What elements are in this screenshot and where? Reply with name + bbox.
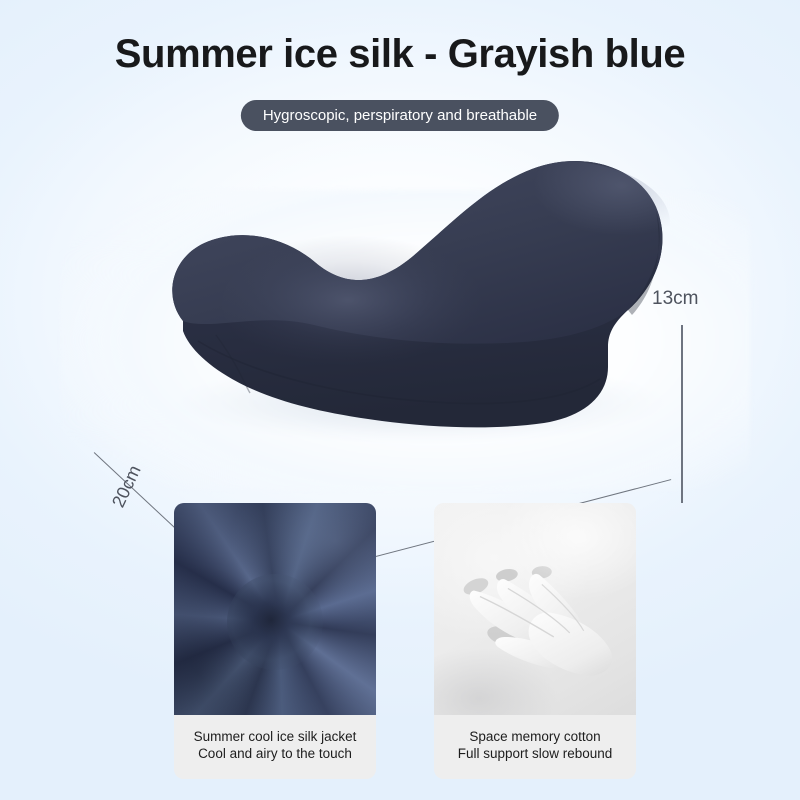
page-title: Summer ice silk - Grayish blue	[0, 32, 800, 77]
feature-panel-memory-foam: Space memory cotton Full support slow re…	[434, 503, 636, 779]
feature-caption-memory-foam: Space memory cotton Full support slow re…	[434, 715, 636, 779]
feature-panel-ice-silk: Summer cool ice silk jacket Cool and air…	[174, 503, 376, 779]
memory-foam-handprint-image	[434, 503, 636, 715]
ice-silk-fabric-image	[174, 503, 376, 715]
product-infographic-page: Summer ice silk - Grayish blue Hygroscop…	[0, 0, 800, 800]
product-hero-scene: 13cm 42cm 20cm	[0, 130, 800, 490]
fabric-sheen-overlay	[174, 503, 376, 715]
foam-sheen-overlay	[434, 503, 636, 715]
caption-line-1: Summer cool ice silk jacket	[194, 729, 357, 744]
feature-badge: Hygroscopic, perspiratory and breathable	[241, 100, 559, 131]
feature-panels: Summer cool ice silk jacket Cool and air…	[0, 500, 800, 790]
dimension-label-height: 13cm	[652, 288, 698, 310]
feature-caption-ice-silk: Summer cool ice silk jacket Cool and air…	[174, 715, 376, 779]
caption-line-2: Full support slow rebound	[440, 746, 630, 763]
caption-line-1: Space memory cotton	[469, 729, 600, 744]
caption-line-2: Cool and airy to the touch	[180, 746, 370, 763]
pillow-illustration	[120, 135, 690, 465]
dimension-line-height	[681, 325, 683, 503]
